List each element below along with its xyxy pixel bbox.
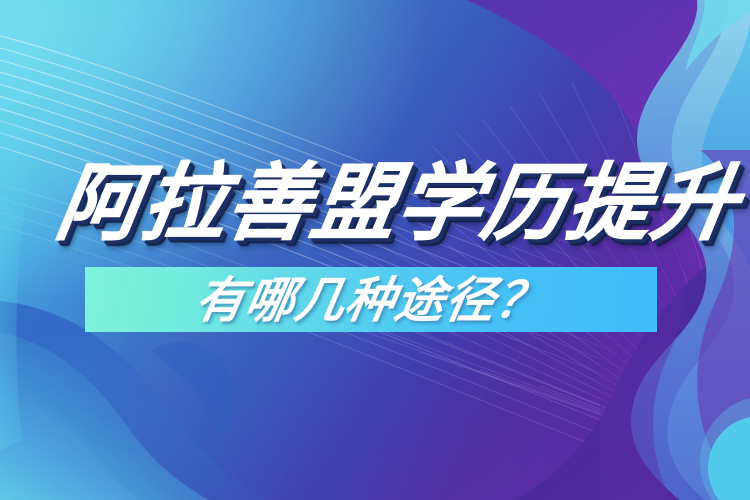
- subtitle-text: 有哪几种途径？: [191, 276, 550, 325]
- page-title: 阿拉善盟学历提升: [51, 161, 744, 245]
- banner-root: 阿拉善盟学历提升 有哪几种途径？: [0, 0, 750, 500]
- title-container: 阿拉善盟学历提升: [0, 148, 750, 258]
- subtitle-bar: 有哪几种途径？: [85, 267, 657, 332]
